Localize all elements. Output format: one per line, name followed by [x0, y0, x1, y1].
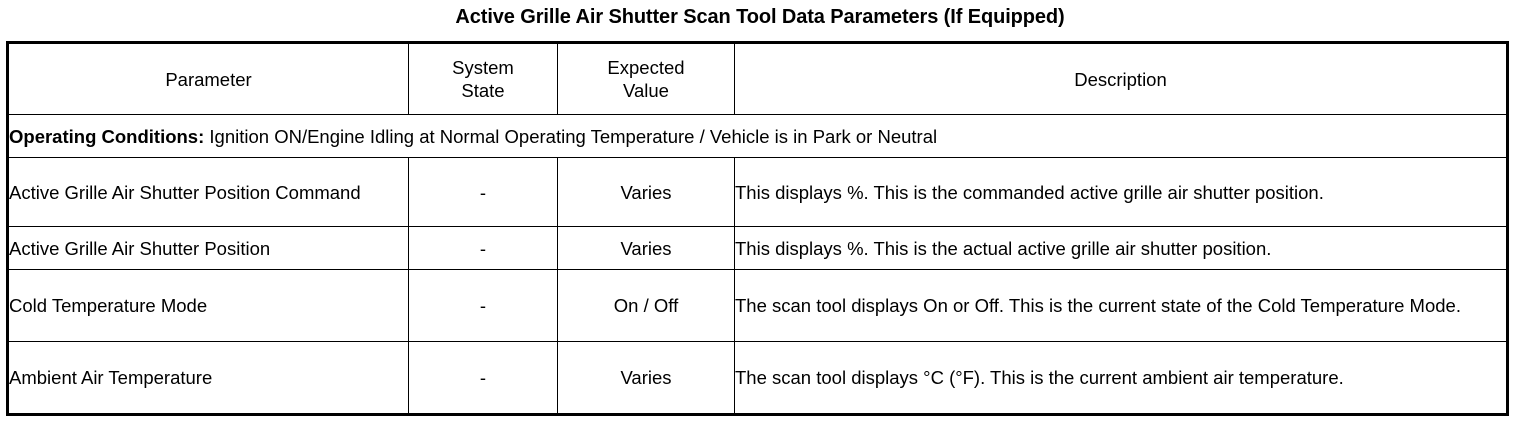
operating-conditions-label: Operating Conditions:: [9, 126, 204, 147]
cell-system-state: -: [409, 158, 558, 227]
cell-expected-value: On / Off: [558, 270, 735, 342]
table-row: Ambient Air Temperature - Varies The sca…: [8, 342, 1508, 415]
cell-parameter: Cold Temperature Mode: [8, 270, 409, 342]
cell-description: This displays %. This is the commanded a…: [735, 158, 1508, 227]
column-header-parameter: Parameter: [8, 43, 409, 115]
operating-conditions-cell: Operating Conditions: Ignition ON/Engine…: [8, 115, 1508, 158]
column-header-system-state-line2: State: [461, 80, 504, 101]
table-row: Cold Temperature Mode - On / Off The sca…: [8, 270, 1508, 342]
column-header-system-state-line1: System: [452, 57, 514, 78]
cell-parameter: Ambient Air Temperature: [8, 342, 409, 415]
cell-parameter: Active Grille Air Shutter Position: [8, 227, 409, 270]
cell-description: The scan tool displays On or Off. This i…: [735, 270, 1508, 342]
table-header: Parameter System State Expected Value De…: [8, 43, 1508, 115]
cell-expected-value: Varies: [558, 342, 735, 415]
page-root: Active Grille Air Shutter Scan Tool Data…: [0, 0, 1520, 426]
cell-system-state: -: [409, 270, 558, 342]
column-header-expected-value: Expected Value: [558, 43, 735, 115]
operating-conditions-row: Operating Conditions: Ignition ON/Engine…: [8, 115, 1508, 158]
cell-description: This displays %. This is the actual acti…: [735, 227, 1508, 270]
column-header-system-state: System State: [409, 43, 558, 115]
cell-parameter: Active Grille Air Shutter Position Comma…: [8, 158, 409, 227]
table-body: Operating Conditions: Ignition ON/Engine…: [8, 115, 1508, 415]
operating-conditions-text: Ignition ON/Engine Idling at Normal Oper…: [204, 126, 937, 147]
parameters-table: Parameter System State Expected Value De…: [6, 41, 1509, 416]
cell-expected-value: Varies: [558, 158, 735, 227]
cell-system-state: -: [409, 227, 558, 270]
cell-description: The scan tool displays °C (°F). This is …: [735, 342, 1508, 415]
cell-expected-value: Varies: [558, 227, 735, 270]
cell-system-state: -: [409, 342, 558, 415]
column-header-expected-value-line1: Expected: [607, 57, 684, 78]
column-header-description: Description: [735, 43, 1508, 115]
column-header-expected-value-line2: Value: [623, 80, 669, 101]
page-title: Active Grille Air Shutter Scan Tool Data…: [0, 4, 1520, 30]
table-row: Active Grille Air Shutter Position Comma…: [8, 158, 1508, 227]
parameters-table-container: Parameter System State Expected Value De…: [6, 41, 1506, 416]
table-header-row: Parameter System State Expected Value De…: [8, 43, 1508, 115]
table-row: Active Grille Air Shutter Position - Var…: [8, 227, 1508, 270]
